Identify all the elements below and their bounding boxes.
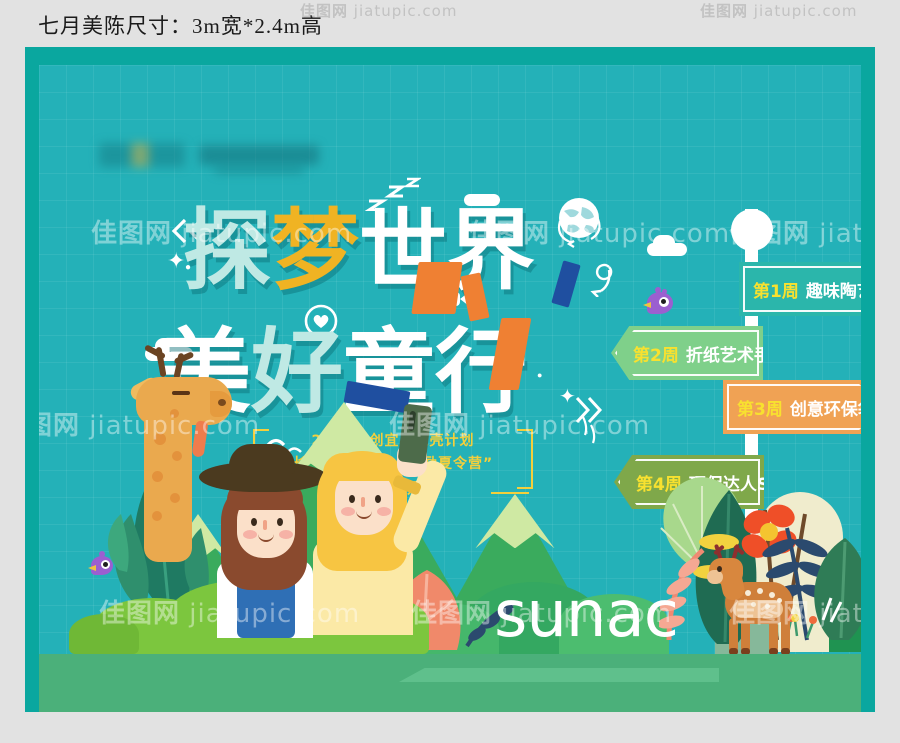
watermark-cn-text: 佳图网: [700, 2, 748, 20]
watermark-en-text: jiatupic.com: [354, 2, 458, 20]
poster-board: ✦ ✦ ● ● 探梦世界: [39, 65, 861, 712]
deer-illustration: [711, 544, 807, 654]
page-title: 七月美陈尺寸：3m宽*2.4m高: [38, 10, 323, 40]
ground-highlight: [399, 668, 719, 682]
girl-selfie-illustration: [297, 439, 447, 634]
blurred-logo-text: [199, 145, 319, 165]
title-char-2: 梦: [271, 180, 359, 307]
signpost-knob: [731, 209, 773, 251]
poster-frame: ✦ ✦ ● ● 探梦世界: [25, 47, 875, 712]
title-char-4: 界: [447, 180, 535, 307]
watermark-en-text: jiatupic.com: [754, 2, 858, 20]
blurred-logo-mark: [99, 143, 185, 167]
sunac-logo: sunac: [494, 578, 678, 652]
ground-platform: [39, 654, 861, 712]
cloud-icon-bump: [653, 235, 675, 251]
watermark-top: 佳图网 jiatupic.com: [300, 0, 457, 21]
bush-4: [69, 614, 139, 654]
title-accent-blue: [551, 260, 580, 307]
watermark-en-text: jiatupic.com: [819, 219, 861, 249]
title-char-1: 探: [183, 180, 271, 307]
scene-illustration: sunac: [39, 382, 861, 712]
watermark-top-2: 佳图网 jiatupic.com: [700, 0, 857, 21]
sign-border: [615, 330, 759, 376]
title-accent-orange: [411, 262, 462, 314]
sign-week-1[interactable]: 第1周 趣味陶艺彩绘: [739, 262, 861, 316]
sign-week-2[interactable]: 第2周 折纸艺术手作: [611, 326, 763, 380]
sign-border: [743, 266, 861, 312]
